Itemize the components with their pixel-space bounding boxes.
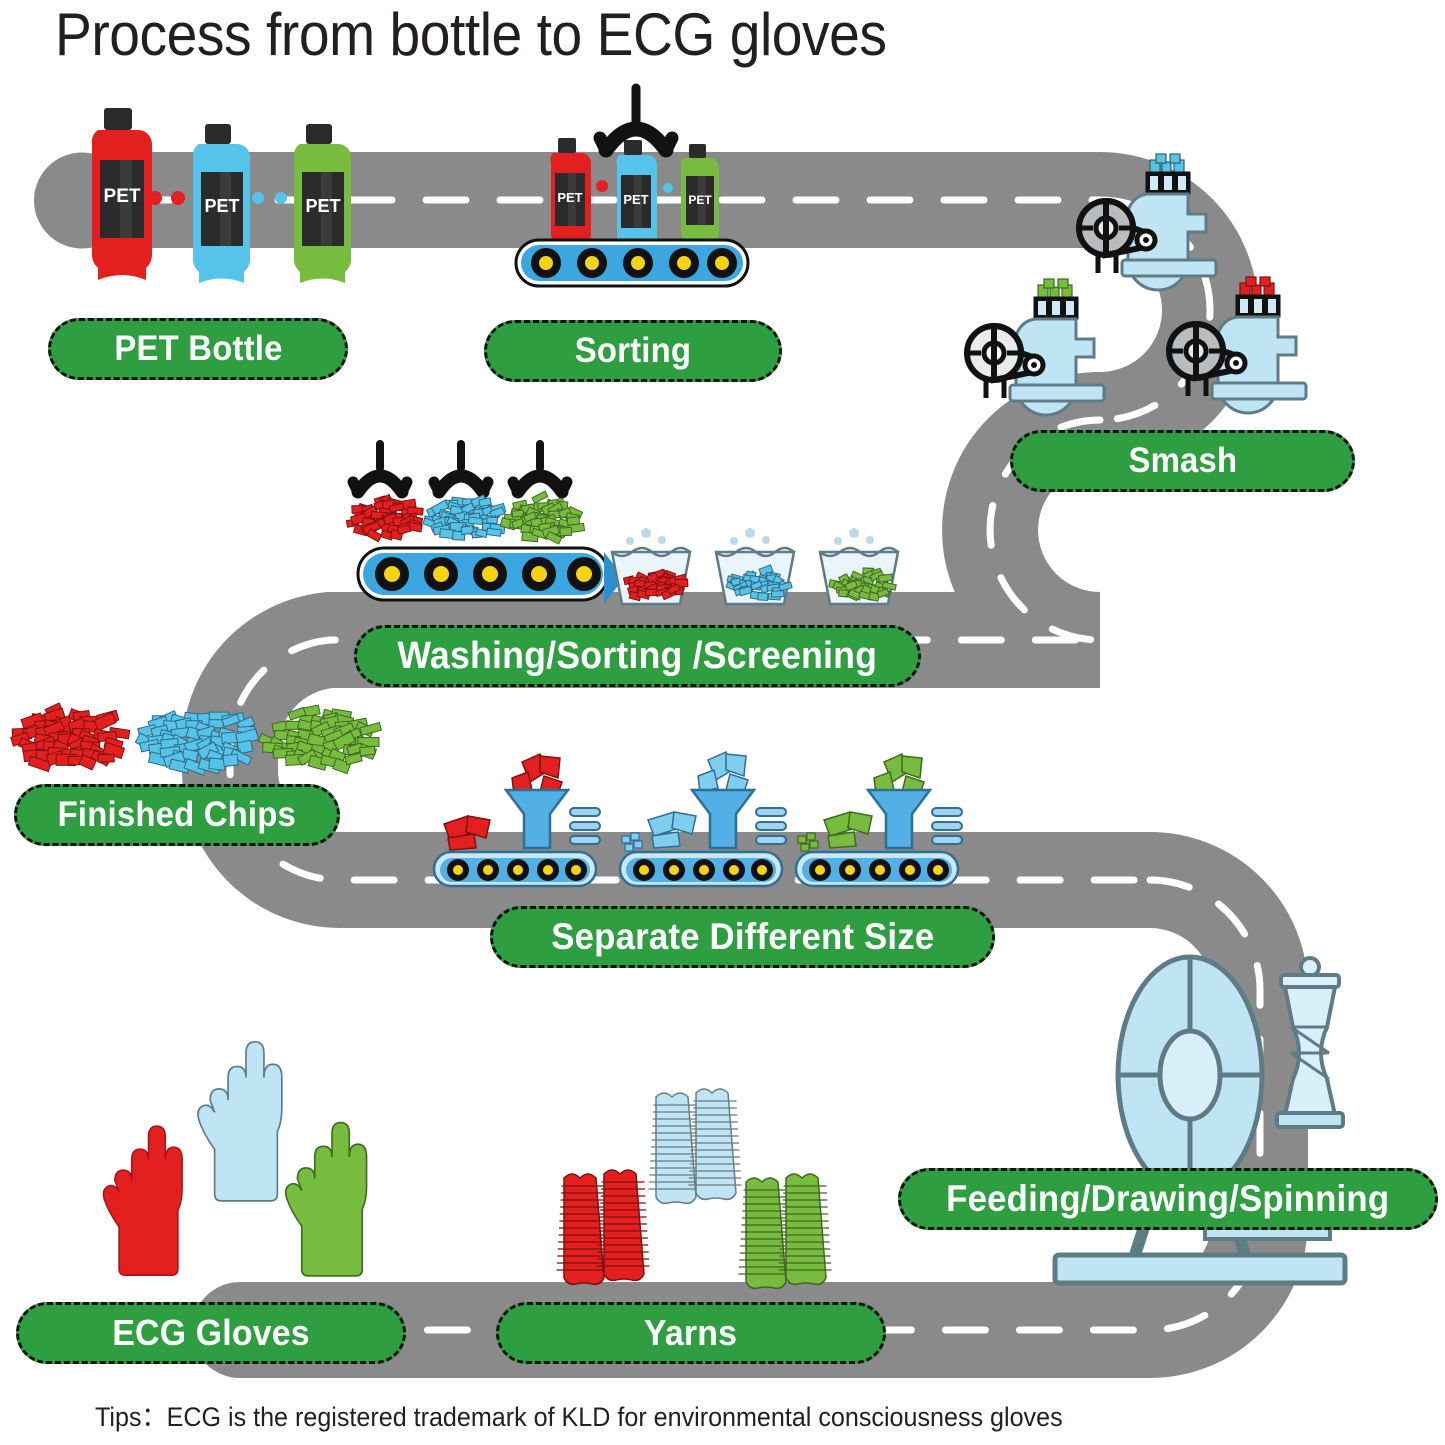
infographic-canvas: PET PET PET [0, 0, 1445, 1445]
separator-unit [620, 752, 786, 886]
glove [103, 1126, 182, 1275]
step-label: Sorting [575, 331, 691, 371]
pet-bottle: PET [616, 140, 657, 253]
conveyor-belt [516, 240, 748, 286]
pet-bottle-group: PET PET PET [92, 108, 351, 283]
spinning-wheel-icon [1055, 957, 1345, 1283]
step-label: ECG Gloves [112, 1312, 309, 1354]
step-label: Feeding/Drawing/Spinning [946, 1178, 1389, 1220]
glove [286, 1123, 367, 1276]
step-badge-washing-sorting-screening[interactable]: Washing/Sorting /Screening [354, 625, 921, 687]
svg-text:PET: PET [305, 196, 340, 216]
chip-pile [346, 494, 423, 541]
wash-basin [716, 528, 794, 604]
washing-group [346, 444, 898, 604]
step-badge-pet-bottle[interactable]: PET Bottle [48, 318, 348, 380]
step-label: PET Bottle [114, 329, 282, 369]
separator-group [434, 752, 962, 886]
wash-basin [820, 528, 898, 604]
pet-bottle: PET [193, 124, 250, 283]
chip-pile [11, 703, 130, 771]
pet-bottle: PET [294, 124, 351, 283]
svg-text:PET: PET [623, 192, 648, 207]
pet-bottle: PET [92, 108, 152, 280]
step-badge-separate-different-size[interactable]: Separate Different Size [490, 906, 995, 968]
chip-pile [346, 491, 584, 544]
yarn-cone-group [556, 1089, 831, 1288]
yarn-cone [648, 1089, 741, 1203]
wash-basin [612, 528, 690, 604]
step-badge-smash[interactable]: Smash [1010, 430, 1355, 492]
step-label: Finished Chips [58, 795, 296, 835]
finished-chip-piles [11, 703, 382, 775]
separator-unit [434, 754, 600, 886]
separator-unit [796, 754, 962, 886]
step-badge-feeding-drawing-spinning[interactable]: Feeding/Drawing/Spinning [898, 1168, 1438, 1230]
yarn-cone [556, 1170, 649, 1284]
chip-pile [500, 491, 584, 544]
claw-hook-icon [353, 444, 407, 492]
chip-pile [423, 495, 506, 540]
step-label: Washing/Sorting /Screening [398, 635, 878, 678]
step-label: Separate Different Size [551, 916, 934, 958]
glove-group [103, 1042, 366, 1276]
crusher-machine [967, 279, 1104, 415]
step-label: Smash [1128, 441, 1237, 481]
svg-text:PET: PET [688, 193, 712, 207]
claw-hook-icon [513, 444, 567, 492]
step-badge-yarns[interactable]: Yarns [496, 1302, 886, 1364]
tips-note: Tips：ECG is the registered trademark of … [95, 1397, 1304, 1437]
step-label: Yarns [644, 1312, 737, 1354]
claw-hook-icon [434, 444, 488, 492]
svg-text:PET: PET [204, 196, 239, 216]
svg-text:PET: PET [104, 186, 141, 207]
conveyor-belt [358, 548, 624, 604]
glove [198, 1042, 282, 1201]
page-title: Process from bottle to ECG gloves [55, 2, 1306, 68]
yarn-cone [738, 1174, 831, 1288]
svg-text:PET: PET [557, 190, 582, 205]
pet-bottle: PET [681, 144, 719, 248]
pet-bottle: PET [550, 138, 591, 251]
step-badge-sorting[interactable]: Sorting [484, 320, 782, 382]
step-badge-finished-chips[interactable]: Finished Chips [14, 784, 340, 846]
step-badge-ecg-gloves[interactable]: ECG Gloves [16, 1302, 406, 1364]
